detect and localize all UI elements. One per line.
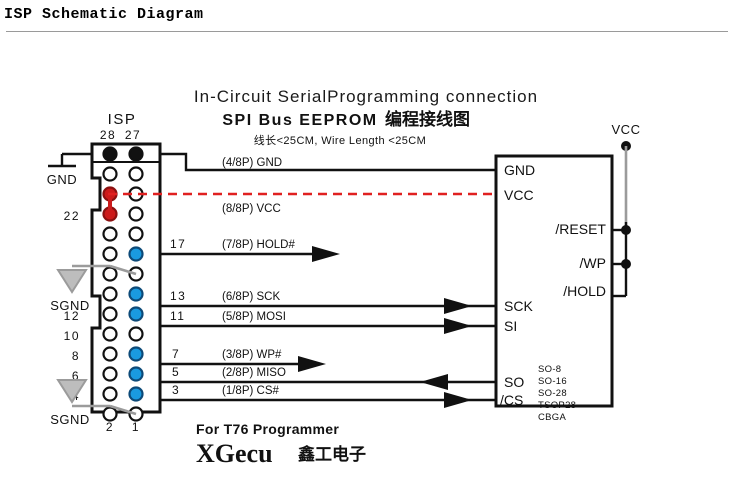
pin-13[interactable] xyxy=(130,288,143,301)
left-label-8: 8 xyxy=(72,349,80,363)
pin-11[interactable] xyxy=(130,308,143,321)
chip-pin-cs: /CS xyxy=(500,392,523,408)
heading-line-1: In-Circuit SerialProgramming connection xyxy=(194,87,538,106)
pin-28[interactable] xyxy=(104,148,117,161)
window-titlebar: ISP Schematic Diagram xyxy=(0,0,732,30)
chip-package-so8: SO-8 xyxy=(538,364,561,375)
gnd-label: GND xyxy=(47,172,77,187)
signal-pin-11: 11 xyxy=(170,309,185,323)
pin-14[interactable] xyxy=(104,288,117,301)
chip-pin-wp: /WP xyxy=(580,255,606,271)
signal-label-miso: (2/8P) MISO xyxy=(222,367,286,379)
signal-label-sck: (6/8P) SCK xyxy=(222,291,280,303)
schematic-canvas: In-Circuit SerialProgramming connection … xyxy=(0,34,732,478)
chip-package-so16: SO-16 xyxy=(538,376,567,387)
signal-pin-13: 13 xyxy=(170,289,186,303)
pin-12[interactable] xyxy=(104,308,117,321)
sgnd-symbol-bottom xyxy=(58,380,136,414)
schematic-window: ISP Schematic Diagram In-Circuit SerialP… xyxy=(0,0,732,478)
wire-gnd xyxy=(160,154,496,170)
chip-package-so28: SO-28 xyxy=(538,388,567,399)
wire-mosi xyxy=(160,318,496,334)
wire-miso xyxy=(160,374,496,390)
connector-pin-grid xyxy=(104,148,143,421)
chip-pin-vcc: VCC xyxy=(504,187,534,203)
signal-pin-17: 17 xyxy=(170,237,186,251)
junction-dot-wp xyxy=(621,259,631,269)
left-label-12: 12 xyxy=(64,309,80,323)
pin-19[interactable] xyxy=(130,228,143,241)
pin-2[interactable] xyxy=(104,408,117,421)
pin-5[interactable] xyxy=(130,368,143,381)
wire-sck xyxy=(160,298,496,314)
pin-20[interactable] xyxy=(104,228,117,241)
junction-dot-reset xyxy=(621,225,631,235)
signal-pin-3: 3 xyxy=(172,383,180,397)
left-label-10: 10 xyxy=(64,329,80,343)
pin-8[interactable] xyxy=(104,348,117,361)
pin-7[interactable] xyxy=(130,348,143,361)
connector-pin-27: 27 xyxy=(125,128,141,142)
xgecu-logo-cn: 鑫工电子 xyxy=(297,444,366,465)
connector-pin-1-label: 1 xyxy=(132,420,140,434)
chip-package-cbga: CBGA xyxy=(538,412,566,423)
chip-pin-so: SO xyxy=(504,374,524,390)
pin-10[interactable] xyxy=(104,328,117,341)
titlebar-divider xyxy=(6,31,728,32)
connector-name: ISP xyxy=(108,111,137,128)
vcc-rail-label: VCC xyxy=(612,122,641,137)
chip-pin-sck: SCK xyxy=(504,298,533,314)
signal-label-wp: (3/8P) WP# xyxy=(222,349,282,361)
pin-25[interactable] xyxy=(130,168,143,181)
pin-6[interactable] xyxy=(104,368,117,381)
chip-pin-gnd: GND xyxy=(504,162,535,178)
page-title: ISP Schematic Diagram xyxy=(4,6,204,23)
wire-cs xyxy=(160,392,496,408)
sgnd-label-bottom: SGND xyxy=(50,412,90,427)
pin-3[interactable] xyxy=(130,388,143,401)
pin-9[interactable] xyxy=(130,328,143,341)
pin-4[interactable] xyxy=(104,388,117,401)
chip-pin-si: SI xyxy=(504,318,517,334)
signal-pin-7: 7 xyxy=(172,347,180,361)
signal-label-cs: (1/8P) CS# xyxy=(222,385,279,397)
connector-body xyxy=(92,144,160,412)
connector-pin-28: 28 xyxy=(100,128,116,142)
signal-label-hold: (7/8P) HOLD# xyxy=(222,239,295,251)
chip-package-tsop28: TSOP28 xyxy=(538,400,576,411)
pin-27[interactable] xyxy=(130,148,143,161)
for-programmer-label: For T76 Programmer xyxy=(196,421,339,437)
chip-pin-hold: /HOLD xyxy=(563,283,606,299)
signal-label-vcc: (8/8P) VCC xyxy=(222,203,281,215)
signal-label-gnd: (4/8P) GND xyxy=(222,157,282,169)
gnd-symbol xyxy=(48,154,92,166)
left-label-22: 22 xyxy=(64,209,80,223)
heading-line-2-en: SPI Bus EEPROM xyxy=(222,112,377,129)
sgnd-symbol-top xyxy=(58,266,136,292)
heading-line-2-cn: 编程接线图 xyxy=(385,109,470,130)
signal-pin-5: 5 xyxy=(172,365,180,379)
pin-21[interactable] xyxy=(130,208,143,221)
pin-17[interactable] xyxy=(130,248,143,261)
pin-26[interactable] xyxy=(104,168,117,181)
pin-18[interactable] xyxy=(104,248,117,261)
chip-pin-reset: /RESET xyxy=(555,221,606,237)
connector-pin-2-label: 2 xyxy=(106,420,114,434)
heading-line-3: 线长<25CM, Wire Length <25CM xyxy=(254,133,426,147)
pin-16[interactable] xyxy=(104,268,117,281)
signal-label-mosi: (5/8P) MOSI xyxy=(222,311,286,323)
xgecu-logo: XGecu xyxy=(196,439,273,468)
